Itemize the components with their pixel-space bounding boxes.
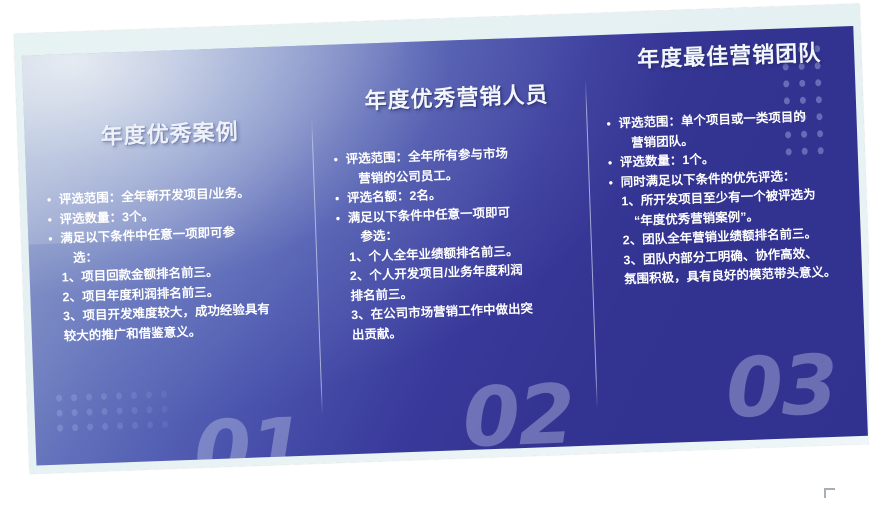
decorative-dot <box>86 408 92 415</box>
bullet-marker-icon: • <box>333 150 346 170</box>
decorative-dot <box>71 394 77 401</box>
bullet-marker-icon: • <box>47 210 60 230</box>
bullet-marker-icon: • <box>48 229 61 249</box>
column-3-title: 年度最佳营销团队 <box>604 34 855 75</box>
decorative-dot <box>86 393 92 400</box>
slide-frame: 年度优秀案例 •评选范围：全年新开发项目/业务。•评选数量：3个。•满足以下条件… <box>14 4 869 474</box>
decorative-dot <box>56 410 62 417</box>
column-divider-1 <box>311 117 323 415</box>
decorative-dot <box>56 395 62 402</box>
decorative-dot <box>161 391 167 398</box>
decorative-dot <box>71 409 77 416</box>
decorative-dot <box>101 393 107 400</box>
slide-tilted-wrapper: 年度优秀案例 •评选范围：全年新开发项目/业务。•评选数量：3个。•满足以下条件… <box>14 4 869 474</box>
decorative-dot <box>57 424 63 431</box>
decorative-dot <box>101 408 107 415</box>
bullet-marker-icon: • <box>47 191 60 211</box>
bullet-marker-icon: • <box>608 173 621 193</box>
decorative-dot <box>116 407 122 414</box>
bullet-marker-icon: • <box>335 209 348 229</box>
decorative-numeral-01: 01 <box>193 408 306 466</box>
bullet-marker-icon: • <box>606 114 619 134</box>
decorative-dot <box>162 421 168 428</box>
column-3-body: •评选范围：单个项目或一类项目的营销团队。•评选数量：1个。•同时满足以下条件的… <box>606 106 862 290</box>
column-2-body: •评选范围：全年所有参与市场营销的公司员工。•评选名额：2名。•满足以下条件中任… <box>333 142 590 346</box>
decorative-dot <box>87 423 93 430</box>
decorative-dot <box>131 392 137 399</box>
decorative-numeral-02: 02 <box>462 374 575 460</box>
award-column-3: 年度最佳营销团队 •评选范围：单个项目或一类项目的营销团队。•评选数量：1个。•… <box>604 34 863 290</box>
award-column-1: 年度优秀案例 •评选范围：全年新开发项目/业务。•评选数量：3个。•满足以下条件… <box>44 112 302 347</box>
decorative-numeral-03: 03 <box>725 345 838 431</box>
resize-handle-corner[interactable] <box>824 488 835 498</box>
decorative-dot <box>161 406 167 413</box>
decorative-dot <box>117 422 123 429</box>
decorative-dot <box>146 406 152 413</box>
column-1-title: 年度优秀案例 <box>44 112 295 153</box>
decorative-dot <box>132 422 138 429</box>
bullet-marker-icon: • <box>608 153 621 173</box>
slide-content-area: 年度优秀案例 •评选范围：全年新开发项目/业务。•评选数量：3个。•满足以下条件… <box>22 26 868 465</box>
column-1-body: •评选范围：全年新开发项目/业务。•评选数量：3个。•满足以下条件中任意一项即可… <box>47 182 302 347</box>
dot-grid-bottom-left <box>56 390 178 442</box>
award-column-2: 年度优秀营销人员 •评选范围：全年所有参与市场营销的公司员工。•评选名额：2名。… <box>331 76 590 346</box>
decorative-dot <box>131 407 137 414</box>
decorative-dot <box>147 421 153 428</box>
decorative-dot <box>72 424 78 431</box>
decorative-dot <box>146 391 152 398</box>
column-2-title: 年度优秀营销人员 <box>331 76 582 117</box>
decorative-dot <box>116 392 122 399</box>
bullet-marker-icon: • <box>335 189 348 209</box>
slide-stage: 年度优秀案例 •评选范围：全年新开发项目/业务。•评选数量：3个。•满足以下条件… <box>0 0 869 506</box>
decorative-dot <box>102 423 108 430</box>
